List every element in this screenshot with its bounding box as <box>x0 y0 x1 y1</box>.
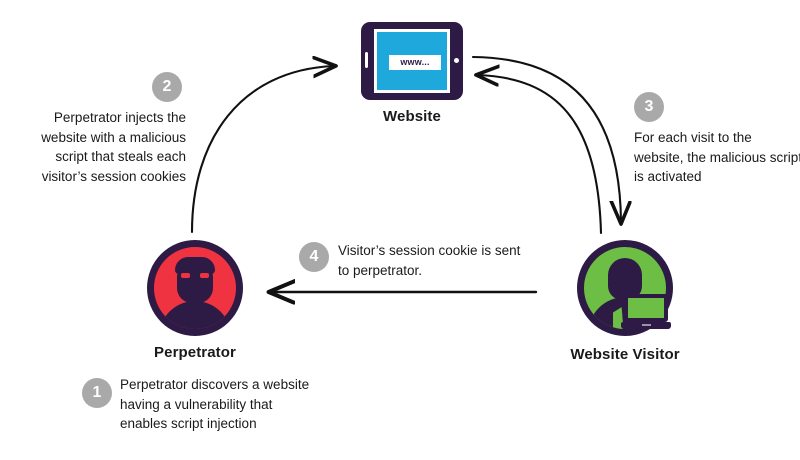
step-4-caption: Visitor’s session cookie is sent to perp… <box>338 241 528 280</box>
arrow-visitor-to-website <box>478 75 601 233</box>
step-1-badge: 1 <box>82 378 112 408</box>
tablet-speaker-icon <box>365 52 368 68</box>
masked-person-icon <box>147 240 243 336</box>
url-bar: www... <box>389 55 441 70</box>
arrow-website-to-visitor <box>473 57 621 222</box>
node-website-label: Website <box>352 108 472 125</box>
laptop-notch-shape <box>642 324 651 326</box>
node-website-visitor-label: Website Visitor <box>565 346 685 363</box>
laptop-lid-shape <box>624 294 668 322</box>
tablet-icon: www... <box>361 22 463 100</box>
step-2-badge: 2 <box>152 72 182 102</box>
step-1-caption: Perpetrator discovers a website having a… <box>120 375 320 434</box>
laptop-icon <box>621 294 671 330</box>
laptop-screen-shape <box>628 298 664 318</box>
node-website: www... Website <box>352 22 472 125</box>
arrow-perpetrator-to-website <box>192 66 334 232</box>
xss-attack-diagram: www... Website Perpetrator <box>0 0 800 460</box>
perpetrator-eye-right-shape <box>200 273 209 278</box>
url-bar-text: www... <box>400 58 429 67</box>
step-4-badge: 4 <box>299 242 329 272</box>
node-perpetrator: Perpetrator <box>140 240 250 361</box>
step-3-badge: 3 <box>634 92 664 122</box>
node-perpetrator-label: Perpetrator <box>140 344 250 361</box>
step-2-caption: Perpetrator injects the website with a m… <box>22 108 186 187</box>
tablet-home-button-icon <box>454 58 459 63</box>
perpetrator-eye-left-shape <box>181 273 190 278</box>
tablet-screen: www... <box>374 29 450 93</box>
step-3-caption: For each visit to the website, the malic… <box>634 128 800 187</box>
node-website-visitor: Website Visitor <box>565 240 685 363</box>
perpetrator-body-shape <box>159 301 231 336</box>
perpetrator-hair-shape <box>175 257 215 274</box>
